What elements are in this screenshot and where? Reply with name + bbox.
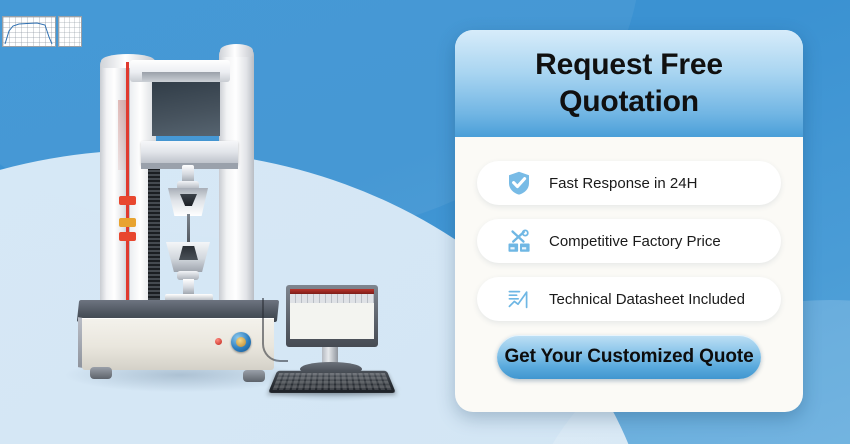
factory-price-icon bbox=[505, 227, 533, 255]
promo-banner: Request Free Quotation Fast Response in … bbox=[0, 0, 850, 444]
monitor-screen bbox=[290, 289, 374, 339]
machine-foot-left bbox=[90, 367, 112, 379]
feature-label-factory-price: Competitive Factory Price bbox=[549, 233, 721, 250]
quotation-card: Request Free Quotation Fast Response in … bbox=[455, 30, 803, 412]
get-quote-button-label: Get Your Customized Quote bbox=[504, 346, 753, 368]
keyboard bbox=[268, 371, 396, 393]
software-toolbar bbox=[290, 294, 374, 303]
machine-right-column bbox=[219, 48, 254, 320]
feature-row-fast-response: Fast Response in 24H bbox=[477, 161, 781, 205]
data-cable bbox=[262, 298, 288, 362]
machine-column-cap-right bbox=[220, 44, 253, 57]
feature-label-datasheet: Technical Datasheet Included bbox=[549, 291, 745, 308]
get-quote-button[interactable]: Get Your Customized Quote bbox=[497, 335, 761, 379]
machine-crosshead bbox=[141, 141, 238, 165]
card-header: Request Free Quotation bbox=[455, 30, 803, 137]
product-image bbox=[0, 0, 440, 444]
card-body: Fast Response in 24H Competitive Factory… bbox=[455, 137, 803, 379]
feature-label-fast-response: Fast Response in 24H bbox=[549, 175, 697, 192]
card-title-line-1: Request Free bbox=[535, 47, 723, 84]
machine-limit-marker-upper bbox=[119, 196, 136, 205]
machine-frame-opening bbox=[152, 78, 220, 136]
machine-limit-marker-middle bbox=[119, 218, 136, 227]
feature-row-datasheet: Technical Datasheet Included bbox=[477, 277, 781, 321]
card-title-line-2: Quotation bbox=[535, 84, 723, 121]
power-indicator-led bbox=[215, 338, 222, 345]
control-knob-core bbox=[236, 337, 246, 347]
shield-check-icon bbox=[505, 169, 533, 197]
machine-limit-marker-lower bbox=[119, 232, 136, 241]
feature-row-factory-price: Competitive Factory Price bbox=[477, 219, 781, 263]
machine-lower-grip-shaft bbox=[183, 279, 194, 295]
machine-red-scale-strip bbox=[126, 62, 129, 312]
machine-foot-right bbox=[243, 370, 265, 382]
line-chart-icon bbox=[505, 285, 533, 313]
page-title: Request Free Quotation bbox=[517, 47, 741, 120]
keyboard-keys bbox=[272, 373, 391, 390]
software-data-panel bbox=[58, 16, 82, 47]
test-specimen bbox=[187, 214, 190, 244]
software-stress-strain-curve bbox=[3, 17, 55, 46]
machine-lead-screw bbox=[148, 160, 160, 310]
machine-top-beam-face bbox=[142, 72, 220, 82]
